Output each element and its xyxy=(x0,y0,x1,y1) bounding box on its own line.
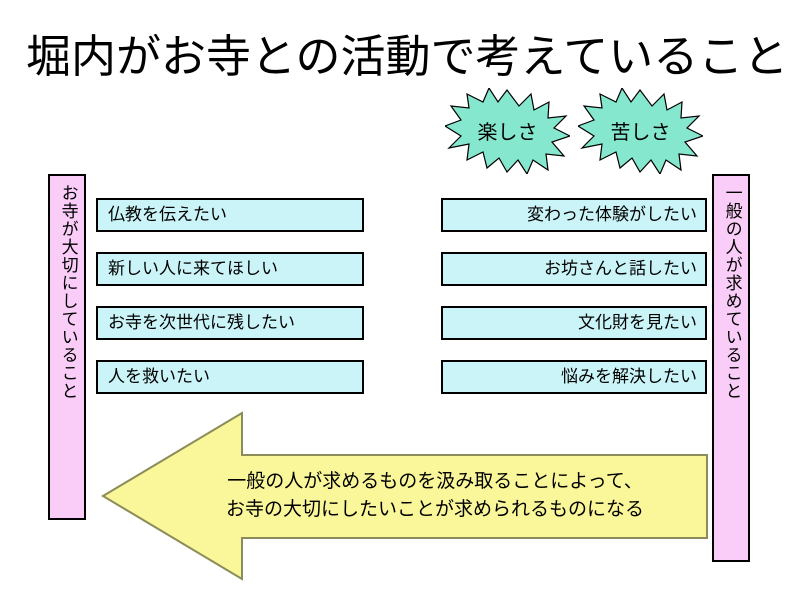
explosion-star-fun-label: 楽しさ xyxy=(445,88,570,174)
insight-arrow-text: 一般の人が求めるものを汲み取ることによって、 お寺の大切にしたいことが求められる… xyxy=(170,450,700,542)
explosion-star-hard-label: 苦しさ xyxy=(578,88,703,174)
banner-public-needs: 一般の人が求めていること xyxy=(712,174,750,562)
banner-temple-values-label: お寺が大切にしていること xyxy=(58,184,75,400)
idea-box-public-3: 文化財を見たい xyxy=(441,306,707,340)
insight-arrow-line-2: お寺の大切にしたいことが求められるものになる xyxy=(226,496,644,524)
idea-box-public-2: お坊さんと話したい xyxy=(441,252,707,286)
banner-temple-values: お寺が大切にしていること xyxy=(48,174,86,520)
explosion-star-fun: 楽しさ xyxy=(445,88,570,174)
idea-box-public-1: 変わった体験がしたい xyxy=(441,198,707,232)
banner-public-needs-label: 一般の人が求めていること xyxy=(722,184,739,400)
insight-arrow: 一般の人が求めるものを汲み取ることによって、 お寺の大切にしたいことが求められる… xyxy=(100,410,710,582)
explosion-star-hard: 苦しさ xyxy=(578,88,703,174)
slide-canvas: 堀内がお寺との活動で考えていること 楽しさ 苦しさ お寺が大切にしていること 一… xyxy=(0,0,800,600)
idea-box-public-4: 悩みを解決したい xyxy=(441,360,707,394)
insight-arrow-line-1: 一般の人が求めるものを汲み取ることによって、 xyxy=(227,468,643,496)
idea-box-temple-2: 新しい人に来てほしい xyxy=(96,252,364,286)
idea-box-temple-1: 仏教を伝えたい xyxy=(96,198,364,232)
idea-box-temple-3: お寺を次世代に残したい xyxy=(96,306,364,340)
idea-box-temple-4: 人を救いたい xyxy=(96,360,364,394)
page-title: 堀内がお寺との活動で考えていること xyxy=(26,26,776,88)
